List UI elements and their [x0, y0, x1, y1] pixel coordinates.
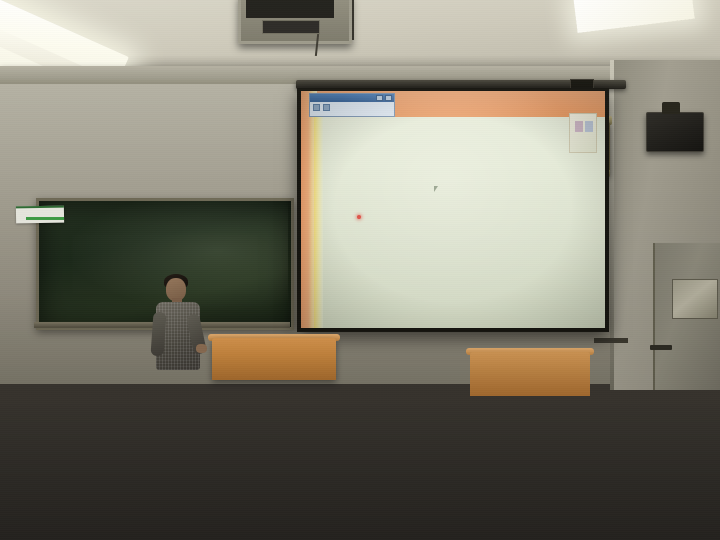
teacher-hand — [196, 344, 207, 353]
back-icon[interactable] — [313, 104, 320, 111]
presentation-slide — [301, 91, 605, 328]
refresh-icon[interactable] — [323, 104, 330, 111]
classroom-photo — [0, 0, 720, 540]
slide-body-text — [327, 133, 589, 147]
slide-deco-square-1 — [575, 121, 583, 132]
side-desk — [470, 352, 590, 396]
door-window-panel — [672, 279, 718, 319]
lecture-podium — [212, 338, 336, 380]
door-handle[interactable] — [650, 345, 672, 350]
projector-cable-secondary — [352, 0, 354, 40]
minimize-icon[interactable] — [376, 95, 383, 101]
speaker-mount — [662, 102, 680, 114]
slide-left-yellow-stripe — [314, 117, 323, 328]
mouse-cursor-icon — [434, 186, 441, 192]
wall-sign — [16, 206, 64, 224]
slide-vignette — [301, 91, 605, 328]
wall-bracket — [594, 338, 628, 343]
foreground-shadow — [0, 400, 720, 540]
media-player-titlebar[interactable] — [310, 94, 394, 102]
media-player-controls[interactable] — [310, 102, 394, 113]
projector-glow — [301, 91, 605, 328]
close-icon[interactable] — [385, 95, 392, 101]
laser-pointer-dot — [357, 215, 361, 219]
wall-speaker — [646, 112, 704, 152]
window-buttons[interactable] — [376, 95, 392, 102]
projector-lens — [262, 20, 320, 34]
slide-deco-square-2 — [585, 121, 593, 132]
media-player-window[interactable] — [309, 93, 395, 117]
ceiling-projector — [246, 0, 334, 18]
projection-screen — [301, 91, 605, 328]
wall-sign-accent-bar — [26, 217, 64, 220]
